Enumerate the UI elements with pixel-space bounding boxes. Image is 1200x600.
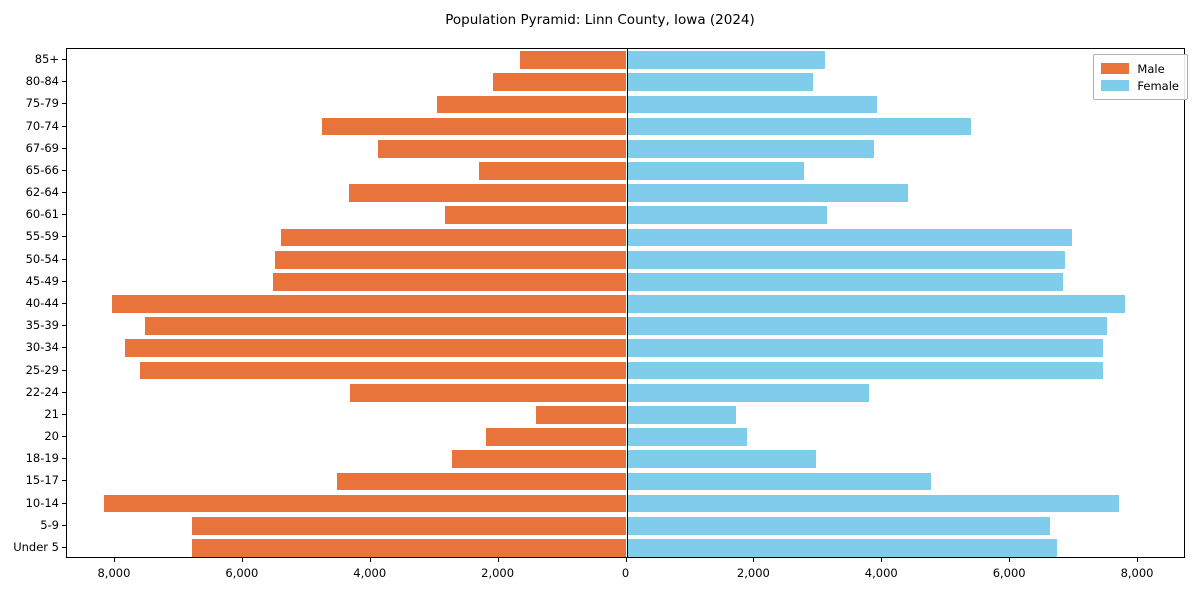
x-axis-tick bbox=[626, 558, 627, 562]
x-axis-tick bbox=[370, 558, 371, 562]
x-axis-tick-label: 6,000 bbox=[225, 566, 258, 580]
x-axis-labels: 8,0006,0004,0002,00002,0004,0006,0008,00… bbox=[66, 558, 1185, 598]
y-axis-tick bbox=[62, 192, 66, 193]
y-axis-labels: 85+80-8475-7970-7467-6965-6662-6460-6155… bbox=[0, 48, 1200, 558]
y-axis-tick bbox=[62, 414, 66, 415]
x-axis-tick-label: 4,000 bbox=[865, 566, 898, 580]
population-pyramid-figure: Population Pyramid: Linn County, Iowa (2… bbox=[0, 0, 1200, 600]
x-axis-tick-label: 0 bbox=[622, 566, 629, 580]
y-axis-tick bbox=[62, 547, 66, 548]
y-axis-tick-label: 85+ bbox=[35, 52, 59, 66]
x-axis-tick-label: 4,000 bbox=[353, 566, 386, 580]
x-axis-tick bbox=[1137, 558, 1138, 562]
y-axis-tick-label: 20 bbox=[44, 429, 59, 443]
x-axis-tick-label: 8,000 bbox=[1121, 566, 1154, 580]
legend-swatch-female bbox=[1101, 80, 1129, 91]
y-axis-tick bbox=[62, 59, 66, 60]
y-axis-tick-label: 45-49 bbox=[26, 274, 59, 288]
y-axis-tick bbox=[62, 103, 66, 104]
legend-item-female: Female bbox=[1101, 77, 1179, 94]
y-axis-tick bbox=[62, 325, 66, 326]
x-axis-tick bbox=[881, 558, 882, 562]
y-axis-tick bbox=[62, 126, 66, 127]
chart-title: Population Pyramid: Linn County, Iowa (2… bbox=[0, 12, 1200, 28]
y-axis-tick bbox=[62, 148, 66, 149]
y-axis-tick bbox=[62, 259, 66, 260]
x-axis-tick-label: 2,000 bbox=[737, 566, 770, 580]
y-axis-tick bbox=[62, 480, 66, 481]
y-axis-tick-label: 55-59 bbox=[26, 229, 59, 243]
y-axis-tick-label: 25-29 bbox=[26, 363, 59, 377]
y-axis-tick-label: 80-84 bbox=[26, 74, 59, 88]
y-axis-tick-label: 35-39 bbox=[26, 318, 59, 332]
y-axis-tick-label: 70-74 bbox=[26, 119, 59, 133]
y-axis-tick bbox=[62, 503, 66, 504]
x-axis-tick bbox=[114, 558, 115, 562]
y-axis-tick bbox=[62, 281, 66, 282]
chart-legend: Male Female bbox=[1093, 54, 1188, 100]
y-axis-tick-label: 50-54 bbox=[26, 252, 59, 266]
legend-label-female: Female bbox=[1137, 79, 1179, 93]
y-axis-tick bbox=[62, 458, 66, 459]
y-axis-tick bbox=[62, 236, 66, 237]
y-axis-tick-label: 60-61 bbox=[26, 207, 59, 221]
y-axis-tick bbox=[62, 525, 66, 526]
y-axis-tick-label: 5-9 bbox=[40, 518, 59, 532]
y-axis-tick bbox=[62, 214, 66, 215]
y-axis-tick bbox=[62, 392, 66, 393]
x-axis-tick bbox=[242, 558, 243, 562]
y-axis-tick-label: 21 bbox=[44, 407, 59, 421]
x-axis-tick-label: 2,000 bbox=[481, 566, 514, 580]
x-axis-tick bbox=[498, 558, 499, 562]
y-axis-tick-label: 10-14 bbox=[26, 496, 59, 510]
x-axis-tick-label: 8,000 bbox=[97, 566, 130, 580]
y-axis-tick bbox=[62, 81, 66, 82]
y-axis-tick bbox=[62, 303, 66, 304]
y-axis-tick bbox=[62, 436, 66, 437]
x-axis-tick-label: 6,000 bbox=[993, 566, 1026, 580]
x-axis-tick bbox=[1009, 558, 1010, 562]
y-axis-tick-label: 18-19 bbox=[26, 451, 59, 465]
legend-swatch-male bbox=[1101, 63, 1129, 74]
y-axis-tick-label: 30-34 bbox=[26, 340, 59, 354]
y-axis-tick-label: Under 5 bbox=[13, 540, 59, 554]
legend-item-male: Male bbox=[1101, 60, 1179, 77]
y-axis-tick-label: 15-17 bbox=[26, 473, 59, 487]
y-axis-tick-label: 75-79 bbox=[26, 96, 59, 110]
y-axis-tick-label: 62-64 bbox=[26, 185, 59, 199]
y-axis-tick-label: 40-44 bbox=[26, 296, 59, 310]
legend-label-male: Male bbox=[1137, 62, 1164, 76]
y-axis-tick-label: 65-66 bbox=[26, 163, 59, 177]
y-axis-tick bbox=[62, 170, 66, 171]
x-axis-tick bbox=[753, 558, 754, 562]
y-axis-tick bbox=[62, 370, 66, 371]
y-axis-tick bbox=[62, 347, 66, 348]
y-axis-tick-label: 22-24 bbox=[26, 385, 59, 399]
y-axis-tick-label: 67-69 bbox=[26, 141, 59, 155]
